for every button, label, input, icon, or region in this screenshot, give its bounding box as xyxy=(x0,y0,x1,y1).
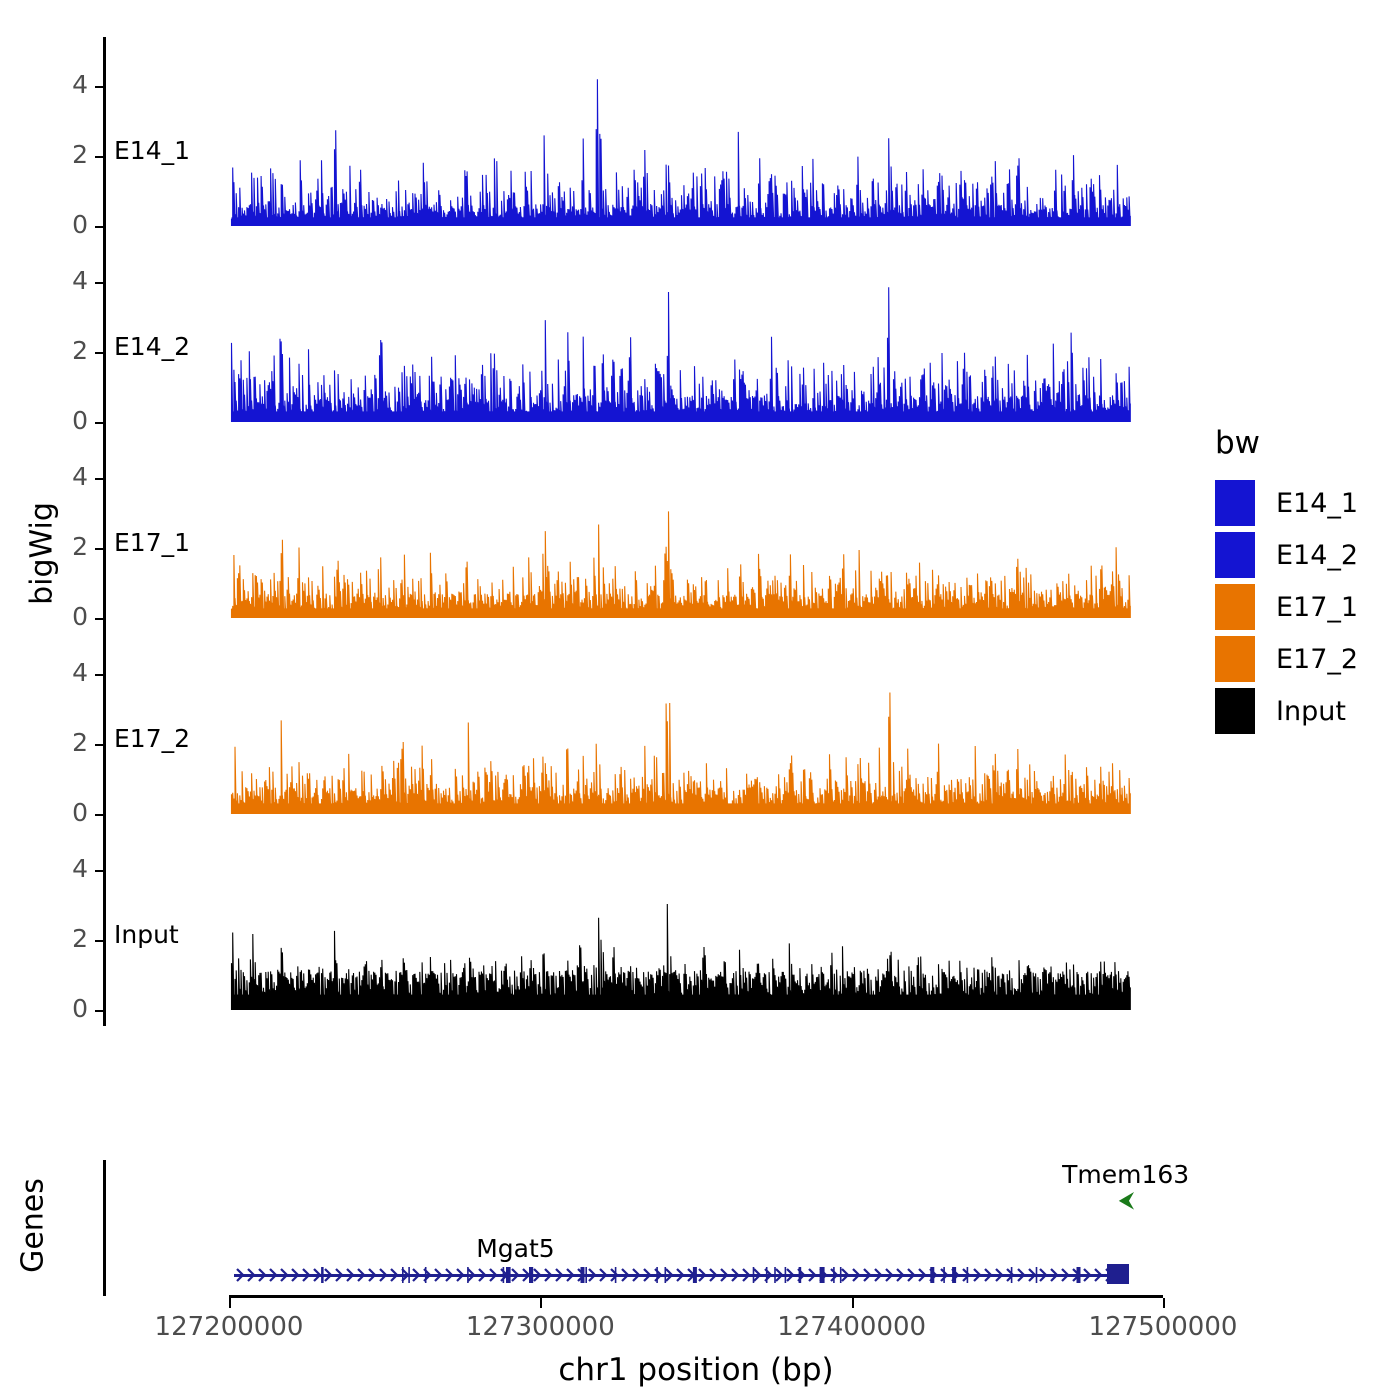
legend-label: E17_2 xyxy=(1276,644,1358,675)
y-tick xyxy=(95,548,103,550)
x-tick xyxy=(852,1298,854,1308)
genome-browser-figure: bigWig Genes 024E14_1024E14_2024E17_1024… xyxy=(0,0,1400,1400)
y-axis-line xyxy=(103,233,106,438)
legend-swatch xyxy=(1215,584,1255,630)
y-tick xyxy=(95,226,103,228)
gene-mgat5[interactable] xyxy=(234,1262,1129,1288)
y-tick-label: 2 xyxy=(0,140,88,169)
x-tick-label: 127200000 xyxy=(155,1312,304,1342)
gene-strand-marker: ⮜ xyxy=(1119,1190,1135,1212)
track-label-e14_2: E14_2 xyxy=(114,332,190,361)
legend-swatch xyxy=(1215,636,1255,682)
y-tick xyxy=(95,1010,103,1012)
y-tick xyxy=(95,674,103,676)
y-tick-label: 2 xyxy=(0,924,88,953)
x-tick-label: 127500000 xyxy=(1089,1312,1238,1342)
y-tick xyxy=(95,618,103,620)
legend-swatch xyxy=(1215,480,1255,526)
y-axis-line xyxy=(103,821,106,1026)
y-tick xyxy=(95,744,103,746)
track-label-e14_1: E14_1 xyxy=(114,136,190,165)
signal-area-e17_1 xyxy=(229,429,1163,618)
y-tick-label: 0 xyxy=(0,602,88,631)
x-axis-title: chr1 position (bp) xyxy=(229,1352,1163,1388)
y-tick xyxy=(95,814,103,816)
y-tick-label: 0 xyxy=(0,798,88,827)
y-tick xyxy=(95,422,103,424)
gene-tmem163[interactable]: ⮜ xyxy=(1123,1188,1131,1214)
y-tick-label: 0 xyxy=(0,406,88,435)
legend-item-e17_1[interactable]: E17_1 xyxy=(1215,581,1358,633)
gene-exon-block xyxy=(1107,1264,1129,1284)
x-tick xyxy=(540,1298,542,1308)
legend-label: E17_1 xyxy=(1276,592,1358,623)
track-label-e17_1: E17_1 xyxy=(114,528,190,557)
y-axis-line xyxy=(103,429,106,634)
signal-area-input xyxy=(229,821,1163,1010)
y-tick-label: 0 xyxy=(0,210,88,239)
legend-item-e17_2[interactable]: E17_2 xyxy=(1215,633,1358,685)
legend-swatch xyxy=(1215,532,1255,578)
legend-label: Input xyxy=(1276,696,1346,727)
legend-label: E14_1 xyxy=(1276,488,1358,519)
legend-item-e14_1[interactable]: E14_1 xyxy=(1215,477,1358,529)
gene-strand-arrows xyxy=(234,1266,1129,1284)
y-tick-label: 4 xyxy=(0,462,88,491)
x-tick xyxy=(229,1298,231,1308)
y-tick-label: 4 xyxy=(0,70,88,99)
signal-area-e14_1 xyxy=(229,37,1163,226)
y-tick-label: 0 xyxy=(0,994,88,1023)
y-axis-label-genes: Genes xyxy=(16,1136,51,1316)
signal-area-e17_2 xyxy=(229,625,1163,814)
x-tick xyxy=(1163,1298,1165,1308)
signal-area-e14_2 xyxy=(229,233,1163,422)
track-label-e17_2: E17_2 xyxy=(114,724,190,753)
legend-item-e14_2[interactable]: E14_2 xyxy=(1215,529,1358,581)
y-tick xyxy=(95,478,103,480)
y-tick xyxy=(95,870,103,872)
y-tick xyxy=(95,282,103,284)
gene-label-tmem163: Tmem163 xyxy=(1062,1160,1189,1189)
legend-title: bw xyxy=(1215,425,1260,461)
x-tick-label: 127400000 xyxy=(777,1312,926,1342)
y-tick xyxy=(95,86,103,88)
y-tick xyxy=(95,156,103,158)
y-tick-label: 4 xyxy=(0,854,88,883)
y-tick-label: 4 xyxy=(0,266,88,295)
y-tick-label: 2 xyxy=(0,728,88,757)
genes-axis-line xyxy=(103,1160,106,1296)
legend-label: E14_2 xyxy=(1276,540,1358,571)
track-label-input: Input xyxy=(114,920,179,949)
y-tick xyxy=(95,352,103,354)
x-axis-line xyxy=(229,1295,1163,1298)
x-tick-label: 127300000 xyxy=(466,1312,615,1342)
y-tick-label: 4 xyxy=(0,658,88,687)
legend-items: E14_1E14_2E17_1E17_2Input xyxy=(1215,477,1358,737)
legend-swatch xyxy=(1215,688,1255,734)
y-tick-label: 2 xyxy=(0,336,88,365)
y-axis-line xyxy=(103,625,106,830)
y-tick xyxy=(95,940,103,942)
y-tick-label: 2 xyxy=(0,532,88,561)
gene-label-mgat5: Mgat5 xyxy=(476,1234,554,1263)
y-axis-line xyxy=(103,37,106,242)
legend-item-input[interactable]: Input xyxy=(1215,685,1358,737)
